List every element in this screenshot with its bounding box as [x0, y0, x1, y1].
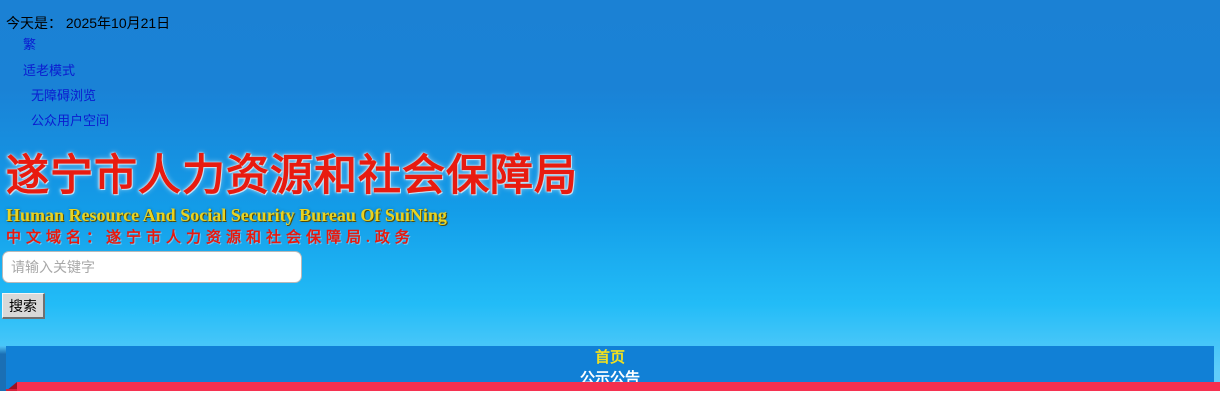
current-date: 今天是： 2025年10月21日: [6, 14, 170, 32]
search-button[interactable]: 搜索: [2, 293, 45, 319]
nav-item-home[interactable]: 首页: [6, 346, 1214, 368]
page-root: 今天是： 2025年10月21日 繁 适老模式 无障碍浏览 公众用户空间 遂宁市…: [0, 0, 1220, 400]
site-title-english: Human Resource And Social Security Burea…: [6, 204, 447, 226]
traditional-chinese-link[interactable]: 繁: [23, 37, 36, 53]
red-accent-strip: [17, 382, 1220, 391]
elderly-mode-link[interactable]: 适老模式: [23, 63, 75, 79]
public-user-space-link[interactable]: 公众用户空间: [31, 113, 109, 129]
site-title-chinese: 遂宁市人力资源和社会保障局: [6, 152, 578, 202]
page-content-base: [0, 391, 1220, 400]
search-input[interactable]: [2, 251, 302, 283]
site-chinese-domain: 中文域名：遂宁市人力资源和社会保障局.政务: [6, 228, 415, 248]
accessibility-browse-link[interactable]: 无障碍浏览: [31, 88, 96, 104]
